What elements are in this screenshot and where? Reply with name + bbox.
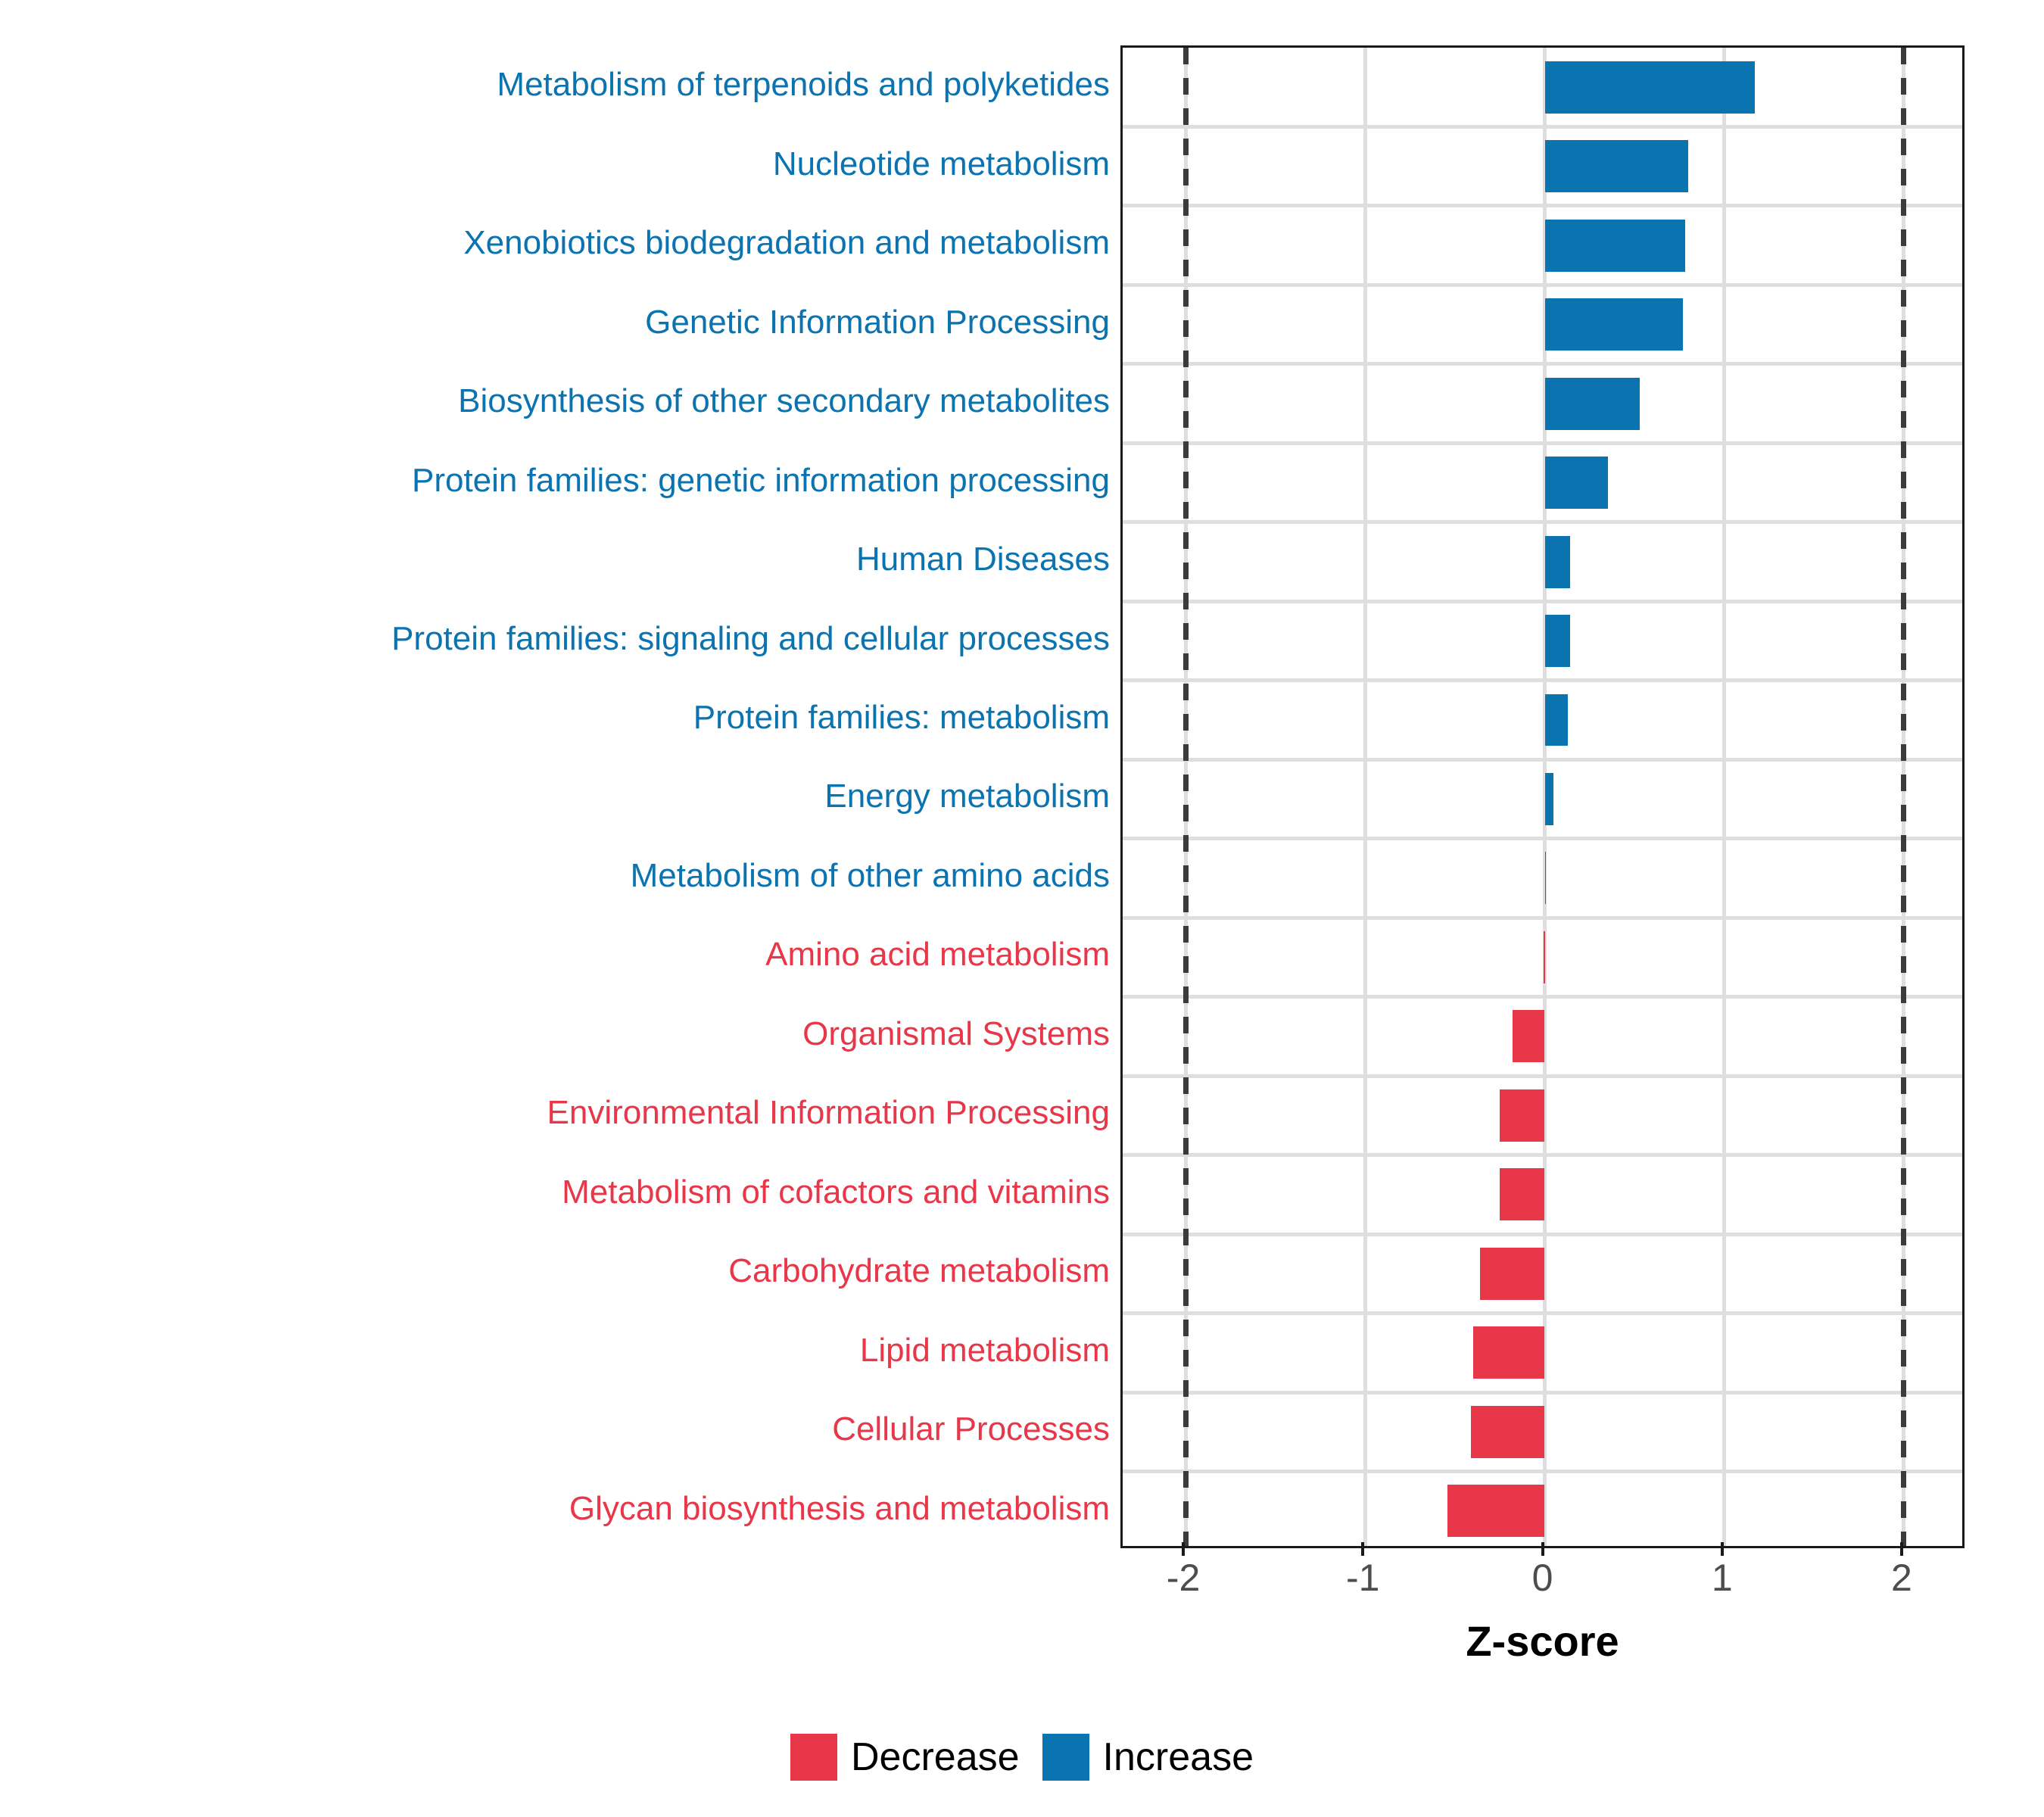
bar-row xyxy=(1123,1392,1962,1471)
bar-9 xyxy=(1545,773,1554,825)
x-tick-mark xyxy=(1541,1542,1544,1556)
category-label-11: Amino acid metabolism xyxy=(0,915,1120,994)
category-label-text: Glycan biosynthesis and metabolism xyxy=(569,1492,1110,1526)
category-label-8: Protein families: metabolism xyxy=(0,678,1120,757)
bar-row xyxy=(1123,1234,1962,1313)
bar-row xyxy=(1123,839,1962,918)
category-label-text: Protein families: signaling and cellular… xyxy=(391,622,1110,656)
category-label-text: Human Diseases xyxy=(856,543,1110,576)
category-label-6: Human Diseases xyxy=(0,520,1120,599)
bar-row xyxy=(1123,126,1962,205)
bar-row xyxy=(1123,206,1962,285)
category-label-text: Metabolism of other amino acids xyxy=(631,859,1110,893)
x-tick-label--1: -1 xyxy=(1346,1556,1379,1600)
category-label-2: Xenobiotics biodegradation and metabolis… xyxy=(0,204,1120,282)
bar-8 xyxy=(1545,694,1569,746)
bar-row xyxy=(1123,759,1962,838)
chart-legend: DecreaseIncrease xyxy=(0,1734,2044,1781)
x-axis-tick-labels: -2-1012 xyxy=(1120,1556,1965,1609)
x-tick-mark xyxy=(1182,1542,1185,1556)
x-axis-title: Z-score xyxy=(1120,1616,1965,1666)
bar-row xyxy=(1123,1314,1962,1392)
bar-row xyxy=(1123,1155,1962,1234)
category-label-text: Protein families: genetic information pr… xyxy=(412,464,1110,497)
plot-panel xyxy=(1120,45,1965,1548)
bar-row xyxy=(1123,364,1962,443)
category-label-text: Environmental Information Processing xyxy=(547,1096,1110,1130)
category-axis-labels: Metabolism of terpenoids and polyketides… xyxy=(0,45,1120,1548)
category-label-text: Amino acid metabolism xyxy=(765,938,1110,971)
category-label-12: Organismal Systems xyxy=(0,995,1120,1074)
category-label-5: Protein families: genetic information pr… xyxy=(0,441,1120,519)
category-label-text: Metabolism of terpenoids and polyketides xyxy=(497,68,1110,101)
plot-area xyxy=(1123,48,1962,1546)
legend-swatch-icon xyxy=(1042,1734,1089,1781)
bar-7 xyxy=(1545,615,1570,667)
category-label-17: Cellular Processes xyxy=(0,1390,1120,1469)
bar-row xyxy=(1123,601,1962,680)
category-label-text: Metabolism of cofactors and vitamins xyxy=(562,1176,1110,1209)
bar-row xyxy=(1123,997,1962,1076)
bar-11 xyxy=(1544,931,1544,983)
bar-row xyxy=(1123,285,1962,363)
category-label-text: Biosynthesis of other secondary metaboli… xyxy=(458,385,1110,418)
category-label-14: Metabolism of cofactors and vitamins xyxy=(0,1153,1120,1232)
category-label-3: Genetic Information Processing xyxy=(0,282,1120,361)
bar-6 xyxy=(1545,536,1570,588)
category-label-text: Genetic Information Processing xyxy=(645,306,1110,339)
legend-item-decrease[interactable]: Decrease xyxy=(790,1734,1020,1781)
bar-row xyxy=(1123,1076,1962,1155)
bar-1 xyxy=(1545,140,1689,192)
x-tick-label--2: -2 xyxy=(1167,1556,1200,1600)
category-label-text: Organismal Systems xyxy=(802,1018,1110,1051)
bar-13 xyxy=(1500,1089,1544,1142)
bar-row xyxy=(1123,443,1962,522)
bar-12 xyxy=(1513,1010,1545,1062)
legend-item-increase[interactable]: Increase xyxy=(1042,1734,1254,1781)
bar-18 xyxy=(1447,1485,1544,1537)
bar-row xyxy=(1123,48,1962,126)
bar-5 xyxy=(1545,457,1608,509)
category-label-text: Cellular Processes xyxy=(832,1413,1110,1446)
category-label-7: Protein families: signaling and cellular… xyxy=(0,599,1120,678)
category-label-text: Energy metabolism xyxy=(824,780,1110,813)
bar-4 xyxy=(1545,378,1640,430)
bar-row xyxy=(1123,681,1962,759)
bar-10 xyxy=(1545,852,1546,904)
category-label-text: Carbohydrate metabolism xyxy=(728,1254,1110,1288)
category-label-0: Metabolism of terpenoids and polyketides xyxy=(0,45,1120,124)
x-tick-label-0: 0 xyxy=(1532,1556,1553,1600)
bar-2 xyxy=(1545,220,1685,272)
category-label-4: Biosynthesis of other secondary metaboli… xyxy=(0,362,1120,441)
legend-label: Decrease xyxy=(851,1734,1020,1780)
bar-chart-figure: Metabolism of terpenoids and polyketides… xyxy=(0,0,2044,1817)
category-label-text: Lipid metabolism xyxy=(860,1334,1110,1367)
category-label-10: Metabolism of other amino acids xyxy=(0,837,1120,915)
bar-row xyxy=(1123,522,1962,601)
bar-15 xyxy=(1480,1248,1544,1300)
category-label-16: Lipid metabolism xyxy=(0,1311,1120,1390)
bar-14 xyxy=(1500,1168,1544,1220)
bar-16 xyxy=(1473,1326,1545,1379)
x-tick-mark xyxy=(1900,1542,1903,1556)
bar-17 xyxy=(1471,1406,1544,1458)
legend-label: Increase xyxy=(1103,1734,1254,1780)
bar-3 xyxy=(1545,298,1684,351)
bar-row xyxy=(1123,1472,1962,1546)
x-tick-label-2: 2 xyxy=(1891,1556,1912,1600)
category-label-15: Carbohydrate metabolism xyxy=(0,1232,1120,1311)
x-tick-label-1: 1 xyxy=(1712,1556,1733,1600)
bar-0 xyxy=(1545,61,1756,114)
category-label-text: Xenobiotics biodegradation and metabolis… xyxy=(463,226,1110,260)
category-label-13: Environmental Information Processing xyxy=(0,1074,1120,1152)
x-tick-mark xyxy=(1721,1542,1724,1556)
x-tick-mark xyxy=(1361,1542,1364,1556)
bar-row xyxy=(1123,918,1962,996)
category-label-1: Nucleotide metabolism xyxy=(0,124,1120,203)
category-label-text: Protein families: metabolism xyxy=(693,701,1110,734)
category-label-9: Energy metabolism xyxy=(0,757,1120,836)
category-label-text: Nucleotide metabolism xyxy=(773,148,1110,181)
legend-swatch-icon xyxy=(790,1734,837,1781)
category-label-18: Glycan biosynthesis and metabolism xyxy=(0,1469,1120,1547)
